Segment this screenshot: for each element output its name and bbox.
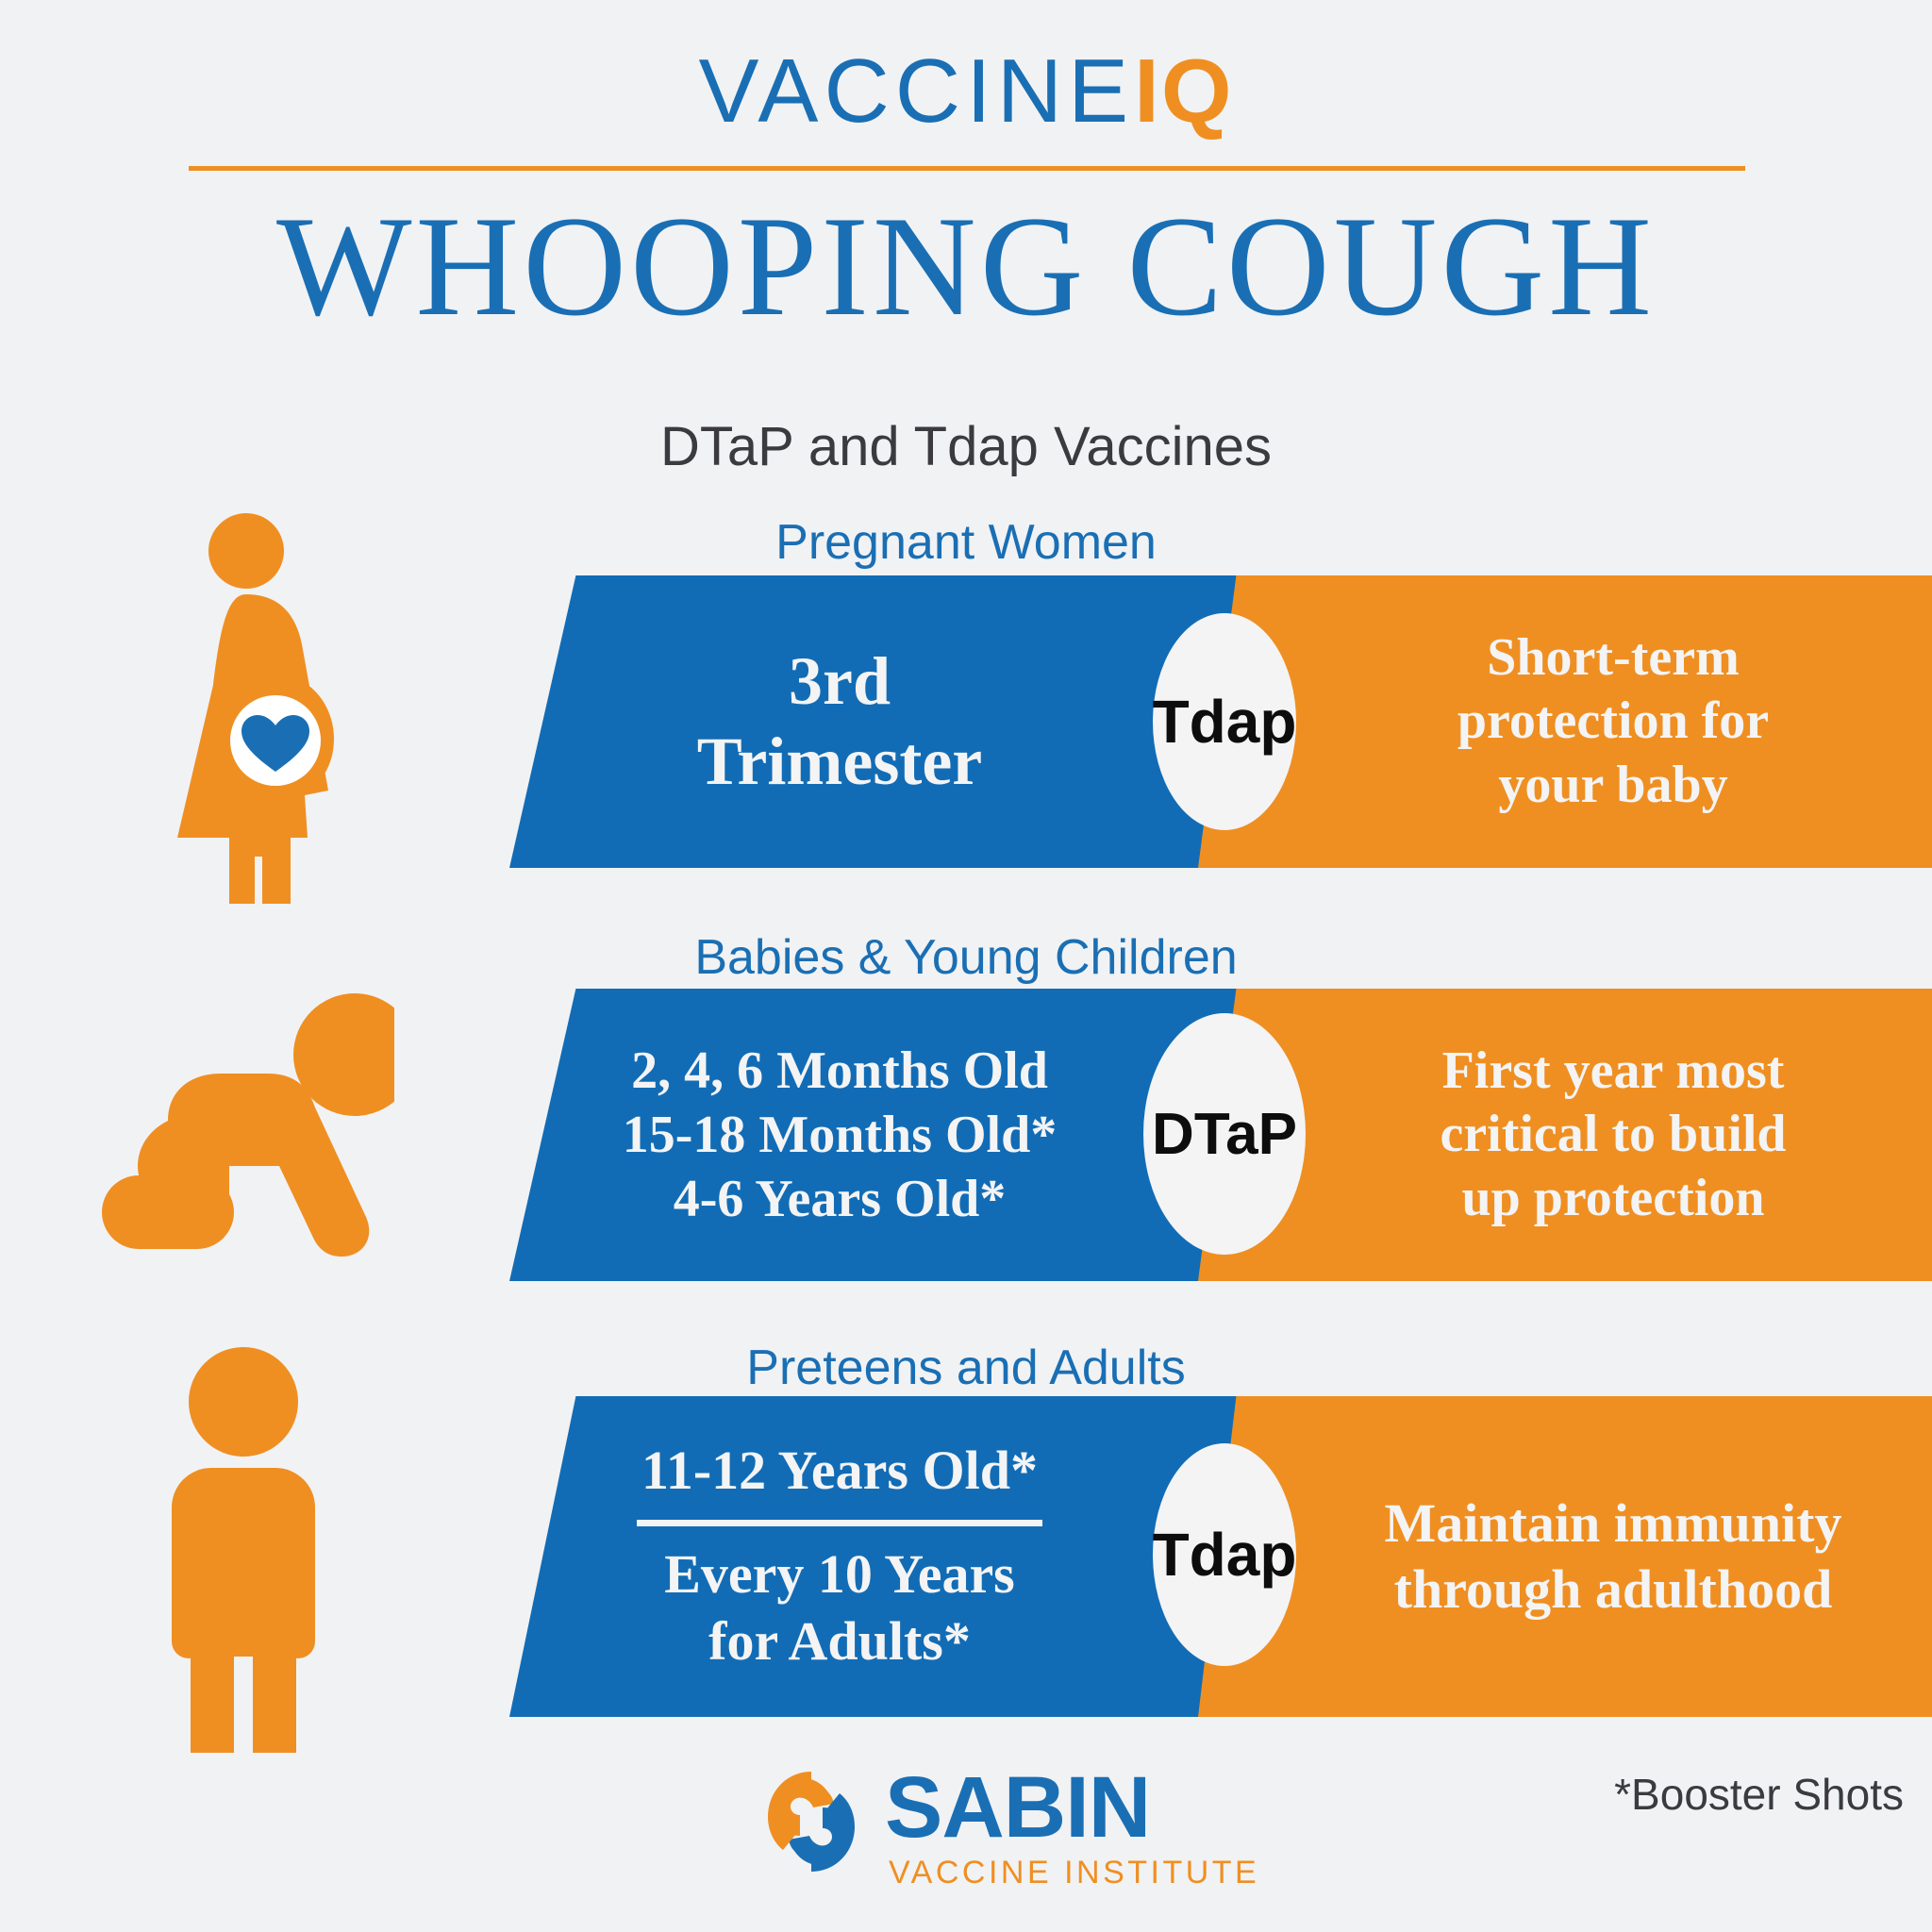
schedule-line: 3rd xyxy=(789,641,891,722)
sabin-wordmark: SABIN xyxy=(885,1758,1150,1857)
schedule-divider xyxy=(637,1520,1042,1526)
brand-logo: VACCINEIQ xyxy=(0,40,1932,143)
benefit-line: through adulthood xyxy=(1394,1557,1833,1623)
benefit-line: your baby xyxy=(1498,754,1727,817)
booster-shots-footnote: *Booster Shots xyxy=(1614,1769,1904,1820)
schedule-text-preteens-adults: 11-12 Years Old* Every 10 Years for Adul… xyxy=(528,1396,1151,1717)
header-divider-rule xyxy=(189,166,1745,171)
section-heading-babies: Babies & Young Children xyxy=(0,929,1932,986)
schedule-line: Every 10 Years xyxy=(664,1541,1015,1608)
page-title: WHOOPING COUGH xyxy=(0,189,1932,343)
section-row-pregnant-women: 3rd Trimester Tdap Short-term protection… xyxy=(0,575,1932,868)
schedule-line: Trimester xyxy=(697,722,982,802)
benefit-line: protection for xyxy=(1457,690,1769,753)
vaccine-badge-label: Tdap xyxy=(1153,1520,1297,1590)
benefit-line: up protection xyxy=(1462,1167,1765,1230)
vaccine-badge-tdap-1: Tdap xyxy=(1153,613,1296,830)
section-row-babies: 2, 4, 6 Months Old 15-18 Months Old* 4-6… xyxy=(0,989,1932,1281)
brand-vaccine-text: VACCINE xyxy=(699,41,1135,142)
vaccine-badge-label: DTaP xyxy=(1152,1101,1297,1168)
benefit-line: critical to build xyxy=(1440,1103,1786,1166)
schedule-line: 4-6 Years Old* xyxy=(674,1167,1007,1231)
benefit-line: Short-term xyxy=(1487,626,1739,690)
benefit-line: First year most xyxy=(1442,1040,1785,1103)
section-row-preteens-adults: 11-12 Years Old* Every 10 Years for Adul… xyxy=(0,1396,1932,1717)
benefit-line: Maintain immunity xyxy=(1385,1491,1842,1557)
benefit-text-pregnant-women: Short-term protection for your baby xyxy=(1321,575,1906,868)
vaccine-badge-dtap: DTaP xyxy=(1143,1013,1306,1255)
page-subtitle: DTaP and Tdap Vaccines xyxy=(0,415,1932,478)
sabin-logo: SABIN VACCINE INSTITUTE xyxy=(755,1757,1189,1907)
brand-iq-text: IQ xyxy=(1134,41,1233,142)
vaccine-badge-label: Tdap xyxy=(1153,687,1297,757)
benefit-text-babies: First year most critical to build up pro… xyxy=(1321,989,1906,1281)
schedule-text-babies: 2, 4, 6 Months Old 15-18 Months Old* 4-6… xyxy=(528,989,1151,1281)
sabin-s-mark-icon xyxy=(755,1760,868,1883)
schedule-text-pregnant-women: 3rd Trimester xyxy=(528,575,1151,868)
schedule-line: for Adults* xyxy=(708,1608,971,1675)
vaccine-badge-tdap-2: Tdap xyxy=(1153,1443,1296,1666)
schedule-line: 11-12 Years Old* xyxy=(641,1438,1038,1505)
schedule-line: 15-18 Months Old* xyxy=(623,1103,1058,1167)
benefit-text-preteens-adults: Maintain immunity through adulthood xyxy=(1321,1396,1906,1717)
sabin-tagline: VACCINE INSTITUTE xyxy=(889,1855,1259,1891)
schedule-line: 2, 4, 6 Months Old xyxy=(631,1039,1048,1103)
